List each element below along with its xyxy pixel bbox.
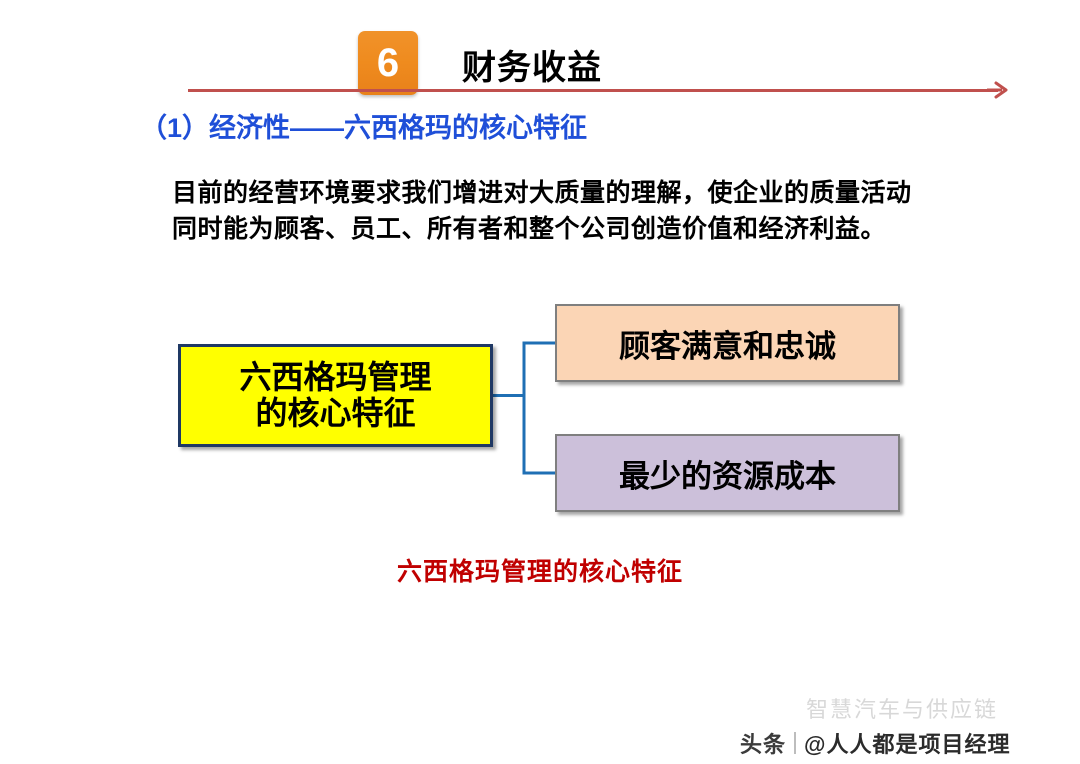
core-features-diagram: 六西格玛管理 的核心特征 顾客满意和忠诚 最少的资源成本 <box>170 296 910 516</box>
diagram-caption: 六西格玛管理的核心特征 <box>0 552 1080 588</box>
slide: 6 财务收益 （1）经济性——六西格玛的核心特征 目前的经营环境要求我们增进对大… <box>0 0 1080 764</box>
core-node-line2: 的核心特征 <box>239 396 431 432</box>
watermark-center: 智慧汽车与供应链 <box>806 692 998 724</box>
footer-watermark: 头条 @人人都是项目经理 <box>740 727 1010 759</box>
header-divider <box>188 89 998 92</box>
section-subtitle: （1）经济性——六西格玛的核心特征 <box>140 106 587 145</box>
arrow-right-icon <box>986 79 1008 101</box>
section-number-badge: 6 <box>358 31 418 95</box>
footer-brand-label: 头条 <box>740 727 786 759</box>
body-paragraph: 目前的经营环境要求我们增进对大质量的理解，使企业的质量活动同时能为顾客、员工、所… <box>172 176 932 247</box>
diagram-node-customer-satisfaction: 顾客满意和忠诚 <box>555 304 900 382</box>
diagram-node-core: 六西格玛管理 的核心特征 <box>178 344 493 447</box>
core-node-line1: 六西格玛管理 <box>239 360 431 396</box>
footer-handle-label: @人人都是项目经理 <box>804 727 1010 759</box>
footer-divider <box>794 732 796 754</box>
diagram-node-minimum-resource-cost: 最少的资源成本 <box>555 434 900 512</box>
page-title: 财务收益 <box>462 40 602 89</box>
